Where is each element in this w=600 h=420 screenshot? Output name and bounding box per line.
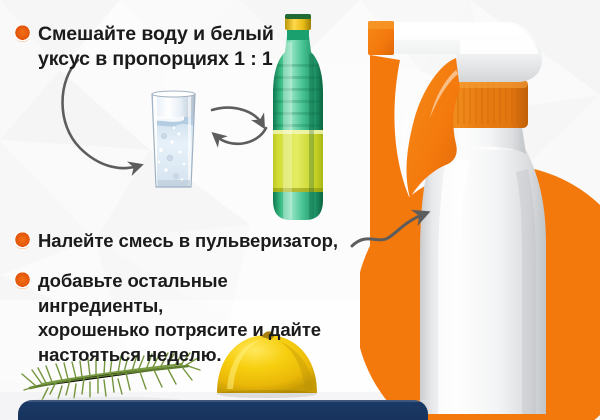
step-3: добавьте остальные ингредиенты, хорошень… bbox=[14, 269, 344, 367]
orange-bullet-icon bbox=[14, 272, 31, 289]
orange-bullet-icon bbox=[14, 25, 31, 42]
orange-bullet-icon bbox=[14, 232, 31, 249]
arrow-to-spray-bottle bbox=[352, 214, 424, 246]
arrow-glass-bottle-exchange bbox=[212, 108, 266, 144]
infographic-canvas: Смешайте воду и белый уксус в пропорциях… bbox=[0, 0, 600, 420]
step-2-text: Налейте смесь в пульверизатор, bbox=[38, 229, 338, 253]
navy-banner bbox=[18, 400, 428, 420]
arrow-text-to-glass bbox=[63, 60, 139, 168]
step-1: Смешайте воду и белый уксус в пропорциях… bbox=[14, 22, 314, 72]
step-1-text: Смешайте воду и белый уксус в пропорциях… bbox=[38, 22, 274, 72]
step-3-text: добавьте остальные ингредиенты, хорошень… bbox=[38, 269, 344, 367]
step-2: Налейте смесь в пульверизатор, bbox=[14, 229, 344, 253]
